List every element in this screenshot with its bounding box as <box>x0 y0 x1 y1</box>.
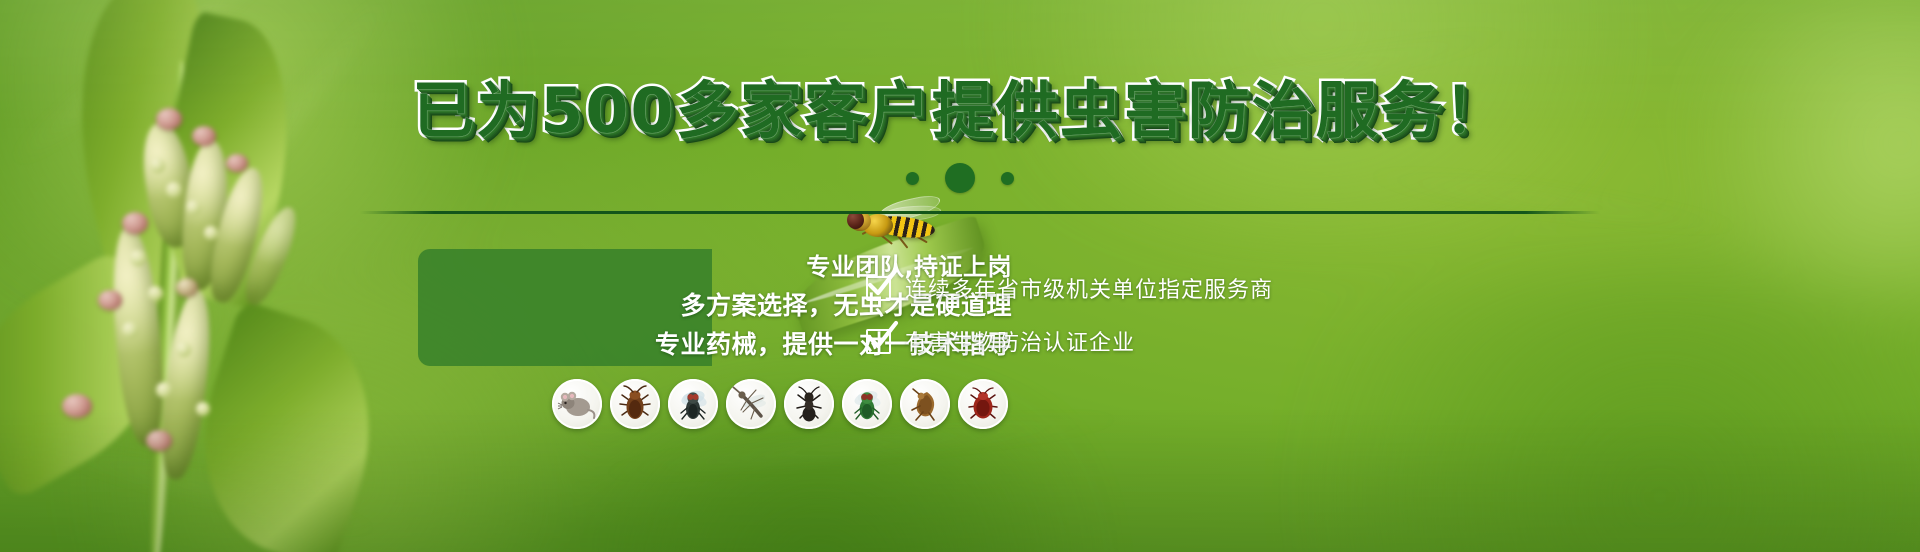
pest-control-hero-banner: 已为500多家客户提供虫害防治服务！ 专业团队,持证上岗 多方案选择，无虫才是硬… <box>0 0 1920 552</box>
flea-icon[interactable] <box>900 379 950 429</box>
banner-headline: 已为500多家客户提供虫害防治服务！ <box>0 78 1920 143</box>
checklist-item-label: 连续多年省市级机关单位指定服务商 <box>905 272 1273 304</box>
fly-icon[interactable] <box>668 379 718 429</box>
checklist-item: 连续多年省市级机关单位指定服务商 <box>866 272 1426 304</box>
checklist-item: 有害生物防治认证企业 <box>866 325 1426 357</box>
decorative-dot-icon <box>1001 172 1014 185</box>
checklist-item-label: 有害生物防治认证企业 <box>905 325 1135 357</box>
pest-type-icon-strip <box>552 378 1022 430</box>
mosquito-icon[interactable] <box>726 379 776 429</box>
headline-text: 已为500多家客户提供虫害防治服务！ <box>412 78 1507 143</box>
checkbox-checked-icon <box>866 276 891 301</box>
mouse-icon[interactable] <box>552 379 602 429</box>
decorative-dot-icon <box>945 163 975 193</box>
decorative-dot-group <box>0 163 1920 193</box>
cockroach-icon[interactable] <box>610 379 660 429</box>
horizontal-divider <box>360 211 1600 214</box>
checkbox-checked-icon <box>866 329 891 354</box>
bedbug-icon[interactable] <box>958 379 1008 429</box>
decorative-dot-icon <box>906 172 919 185</box>
hoverfly-image <box>845 195 955 251</box>
credentials-checklist: 连续多年省市级机关单位指定服务商 有害生物防治认证企业 <box>866 272 1426 357</box>
ant-icon[interactable] <box>784 379 834 429</box>
blowfly-icon[interactable] <box>842 379 892 429</box>
